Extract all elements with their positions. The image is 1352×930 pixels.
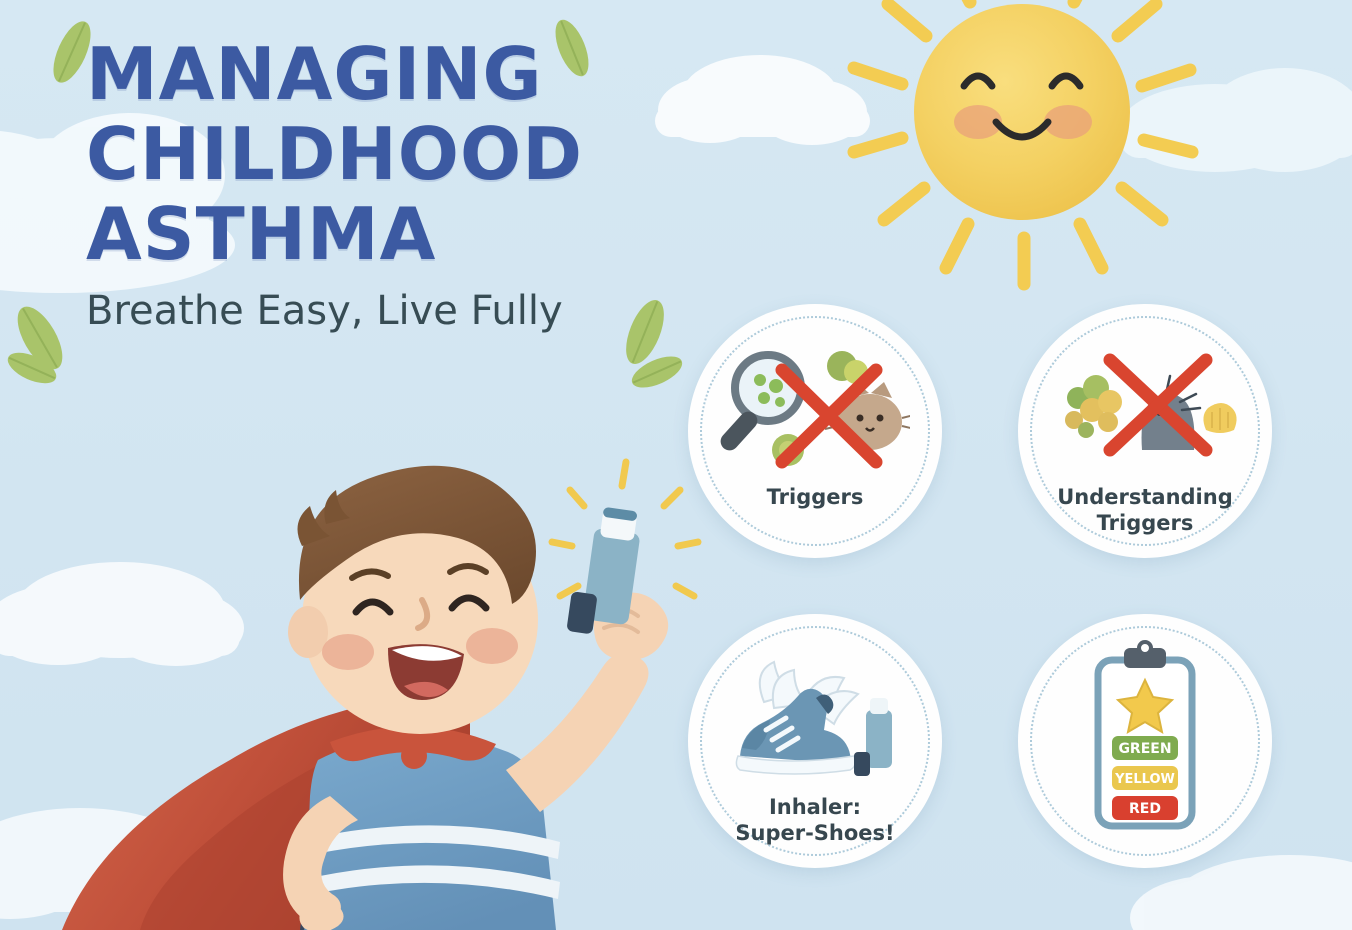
card-action-plan[interactable]: GREEN YELLOW RED xyxy=(1018,614,1272,868)
page-subtitle: Breathe Easy, Live Fully xyxy=(86,288,646,334)
page-title-line-2: CHILDHOOD xyxy=(86,114,646,194)
magnifier-pollen-cat-crossed-out-icon xyxy=(720,346,910,478)
zone-band-yellow: YELLOW xyxy=(1112,766,1178,790)
zone-band-green: GREEN xyxy=(1112,736,1178,760)
header-block: MANAGING CHILDHOOD ASTHMA Breathe Easy, … xyxy=(86,34,646,334)
card-label-line-2: Super-Shoes! xyxy=(735,821,894,845)
card-label-understanding-triggers: Understanding Triggers xyxy=(1035,484,1255,536)
zone-label-green: GREEN xyxy=(1118,741,1171,757)
card-label-line-2: Triggers xyxy=(1097,511,1194,535)
page-title-line-1: MANAGING xyxy=(86,34,646,114)
zone-band-red: RED xyxy=(1112,796,1178,820)
superhero-boy-illustration xyxy=(62,462,698,930)
card-label-triggers: Triggers xyxy=(705,484,925,510)
arm-right xyxy=(506,653,649,812)
cloud-icon xyxy=(0,562,244,666)
clip-ring xyxy=(1139,642,1151,654)
zone-label-yellow: YELLOW xyxy=(1114,772,1175,787)
winged-sneaker-and-inhaler-icon xyxy=(720,656,910,788)
cheek-left xyxy=(322,634,374,670)
pollen-dustmite-crossed-out-icon xyxy=(1050,346,1240,478)
pollen-cluster-icon xyxy=(1065,375,1122,438)
cape-knot xyxy=(401,743,427,769)
cheek-right xyxy=(466,628,518,664)
ear xyxy=(288,606,328,658)
card-triggers[interactable]: Triggers xyxy=(688,304,942,558)
cloud-icon xyxy=(655,55,870,145)
pollen-puff-icon xyxy=(1203,403,1236,433)
sun-body xyxy=(914,4,1130,220)
asthma-action-plan-clipboard-icon: GREEN YELLOW RED xyxy=(1050,640,1240,840)
card-understanding-triggers[interactable]: Understanding Triggers xyxy=(1018,304,1272,558)
card-label-inhaler-super-shoes: Inhaler: Super-Shoes! xyxy=(705,794,925,846)
page-title-line-3: ASTHMA xyxy=(86,194,646,274)
card-inhaler-super-shoes[interactable]: Inhaler: Super-Shoes! xyxy=(688,614,942,868)
poster-canvas: MANAGING CHILDHOOD ASTHMA Breathe Easy, … xyxy=(0,0,1352,930)
inhaler-icon xyxy=(854,698,892,776)
smiling-sun-icon xyxy=(854,0,1192,284)
card-label-line-1: Inhaler: xyxy=(769,795,861,819)
card-label-line-1: Understanding xyxy=(1057,485,1233,509)
zone-label-red: RED xyxy=(1129,801,1161,817)
